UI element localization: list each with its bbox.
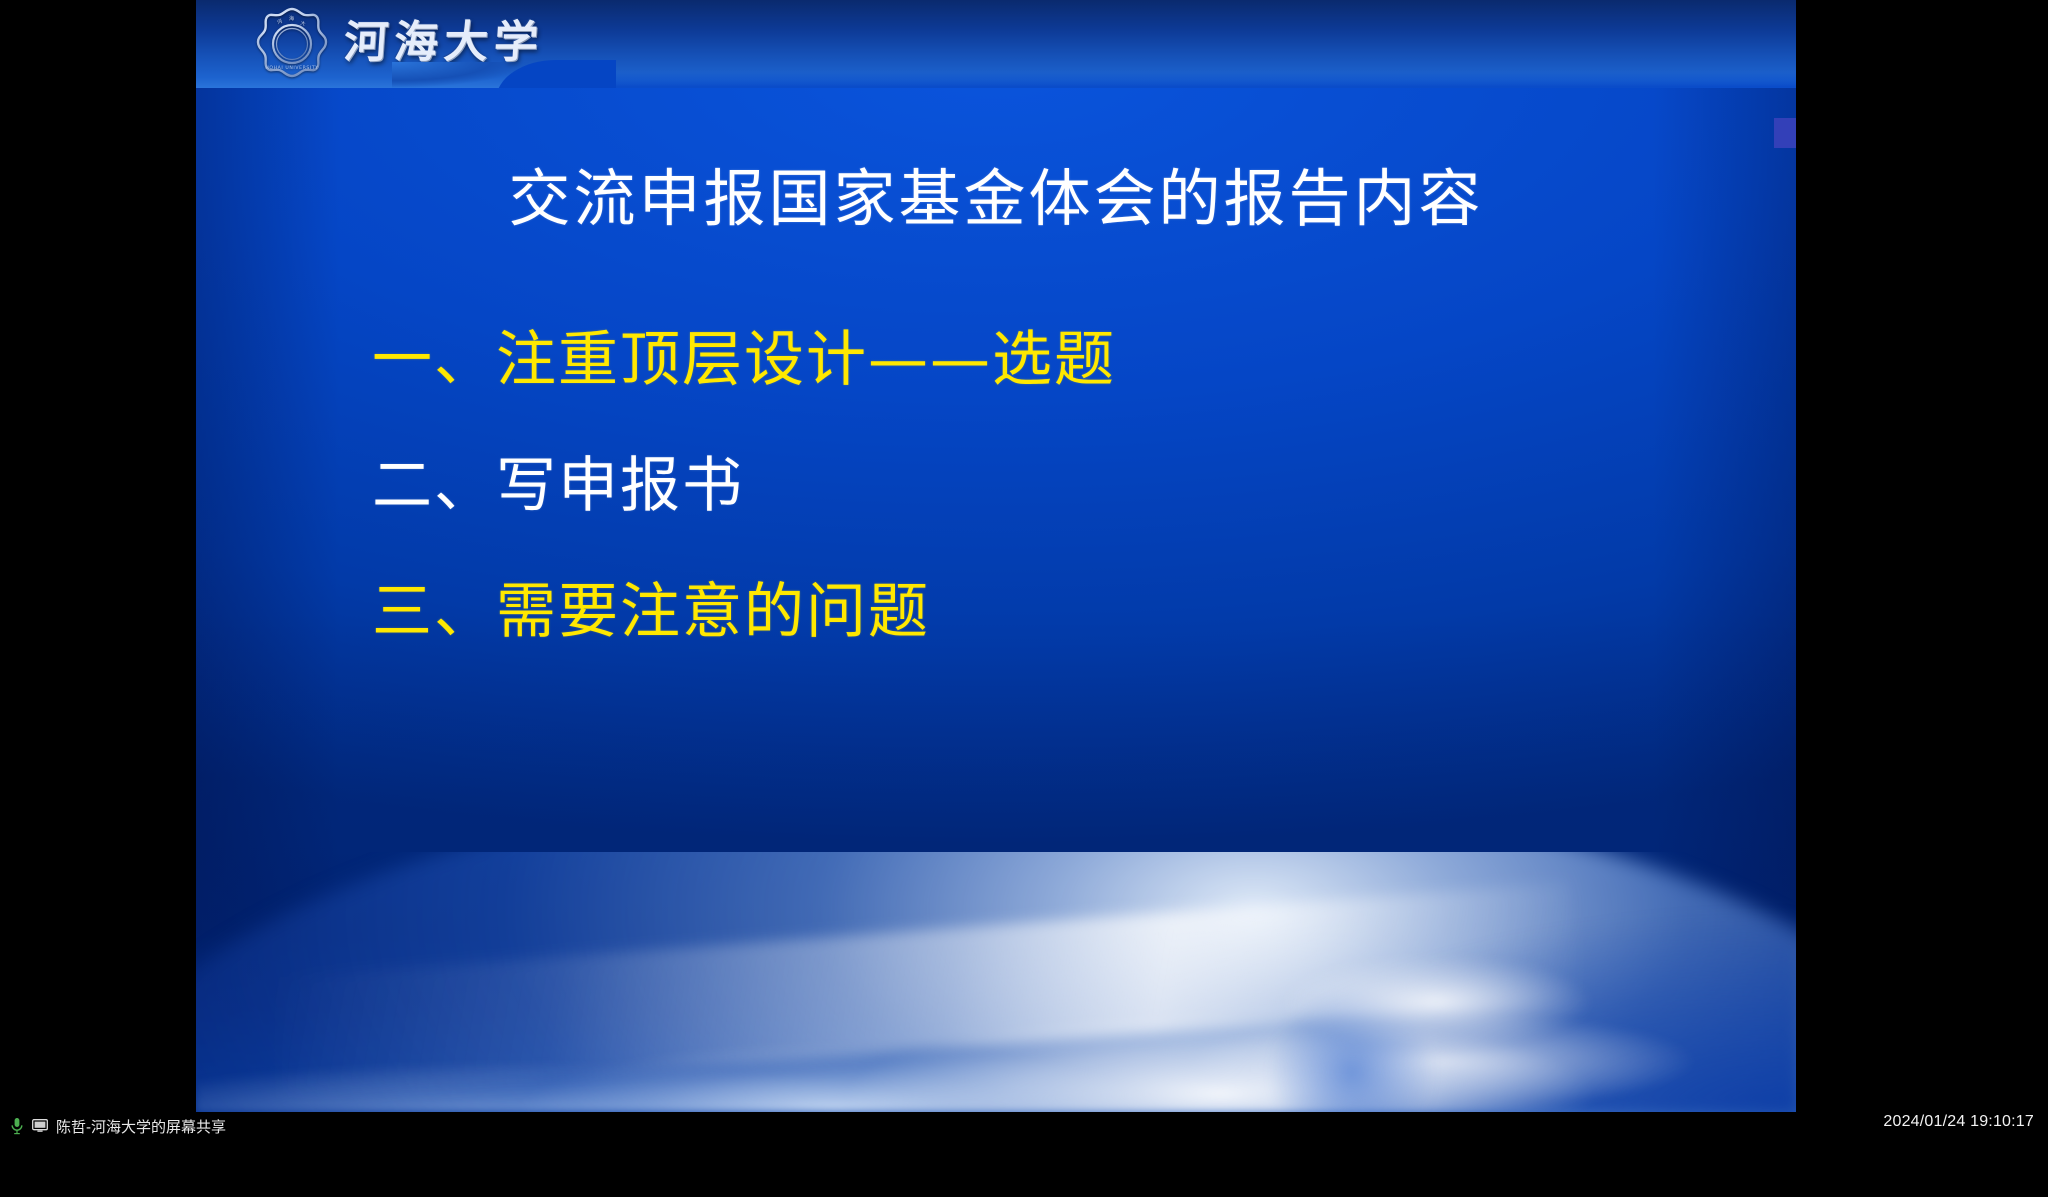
- slide-header-band: 河 海 大 HOHAI UNIVERSITY 河海大学: [196, 0, 1796, 88]
- university-wordmark: 河海大学: [342, 21, 545, 65]
- bullet-item-1: 一、注重顶层设计——选题: [372, 330, 1772, 390]
- clock: 2024/01/24 19:10:17: [1883, 1113, 2034, 1131]
- svg-text:HOHAI UNIVERSITY: HOHAI UNIVERSITY: [265, 65, 318, 71]
- letterbox-left: [0, 0, 196, 1112]
- microphone-icon[interactable]: [10, 1117, 24, 1135]
- letterbox-right: [1796, 0, 2048, 1112]
- screen-share-status[interactable]: 陈哲-河海大学的屏幕共享: [10, 1113, 226, 1139]
- bullet-item-2: 二、写申报书: [372, 456, 1772, 516]
- header-band-tail: [536, 72, 1796, 88]
- taskbar: 陈哲-河海大学的屏幕共享 2024/01/24 19:10:17: [0, 1112, 2048, 1197]
- slide-bullet-list: 一、注重顶层设计——选题 二、写申报书 三、需要注意的问题: [372, 330, 1772, 708]
- university-logo: 河 海 大 HOHAI UNIVERSITY 河海大学: [256, 4, 544, 82]
- screen-share-label: 陈哲-河海大学的屏幕共享: [56, 1116, 226, 1137]
- svg-text:河: 河: [276, 17, 283, 25]
- screen-share-window: 河 海 大 HOHAI UNIVERSITY 河海大学 交流申报国家基金体会的报…: [0, 0, 2048, 1197]
- hohai-university-emblem-icon: 河 海 大 HOHAI UNIVERSITY: [256, 7, 328, 79]
- bullet-item-3: 三、需要注意的问题: [372, 582, 1772, 642]
- svg-text:海: 海: [289, 15, 294, 22]
- monitor-icon[interactable]: [32, 1119, 48, 1133]
- shared-slide-viewport[interactable]: 河 海 大 HOHAI UNIVERSITY 河海大学 交流申报国家基金体会的报…: [196, 0, 1796, 1112]
- slide-title: 交流申报国家基金体会的报告内容: [196, 148, 1796, 238]
- render-artifact-block: [1774, 118, 1796, 148]
